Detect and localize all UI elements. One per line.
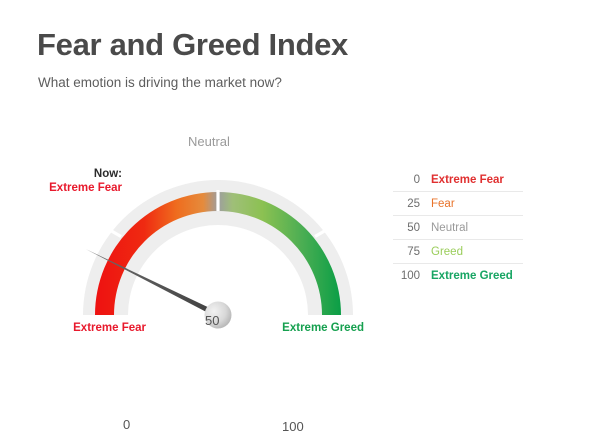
gauge-extreme-greed-text: Extreme Greed xyxy=(282,322,364,334)
gauge-current-callout: Now: Extreme Fear xyxy=(24,167,122,196)
legend-label: Greed xyxy=(431,246,463,258)
legend-label: Fear xyxy=(431,198,455,210)
legend-label: Extreme Fear xyxy=(431,174,504,186)
legend-row[interactable]: 25Fear xyxy=(393,192,523,216)
gauge-legend: 0Extreme Fear25Fear50Neutral75Greed100Ex… xyxy=(393,168,523,287)
legend-row[interactable]: 75Greed xyxy=(393,240,523,264)
page-subtitle: What emotion is driving the market now? xyxy=(38,76,282,90)
gauge-top-label: Neutral xyxy=(188,135,230,150)
gauge-extreme-fear-label: Extreme Fear xyxy=(68,322,146,335)
gauge-tick-label-0: 0 xyxy=(123,418,130,433)
gauge-now-value: Extreme Fear xyxy=(24,181,122,195)
gauge-tick-label-50: 50 xyxy=(205,314,219,329)
legend-label: Extreme Greed xyxy=(431,270,513,282)
gauge-extreme-fear-text: Extreme Fear xyxy=(73,322,146,334)
legend-row[interactable]: 100Extreme Greed xyxy=(393,264,523,287)
legend-row[interactable]: 0Extreme Fear xyxy=(393,168,523,192)
legend-label: Neutral xyxy=(431,222,468,234)
page-title: Fear and Greed Index xyxy=(37,29,348,60)
legend-value: 0 xyxy=(393,174,420,186)
gauge-tick-label-100: 100 xyxy=(282,420,304,435)
gauge-extreme-greed-label: Extreme Greed xyxy=(282,322,364,335)
gauge-now-caption: Now: xyxy=(24,167,122,181)
legend-value: 50 xyxy=(393,222,420,234)
legend-value: 100 xyxy=(393,270,420,282)
legend-value: 75 xyxy=(393,246,420,258)
fear-greed-gauge: Neutral 50 0 100 Extreme Fear Extreme Gr… xyxy=(60,128,380,368)
legend-row[interactable]: 50Neutral xyxy=(393,216,523,240)
legend-value: 25 xyxy=(393,198,420,210)
